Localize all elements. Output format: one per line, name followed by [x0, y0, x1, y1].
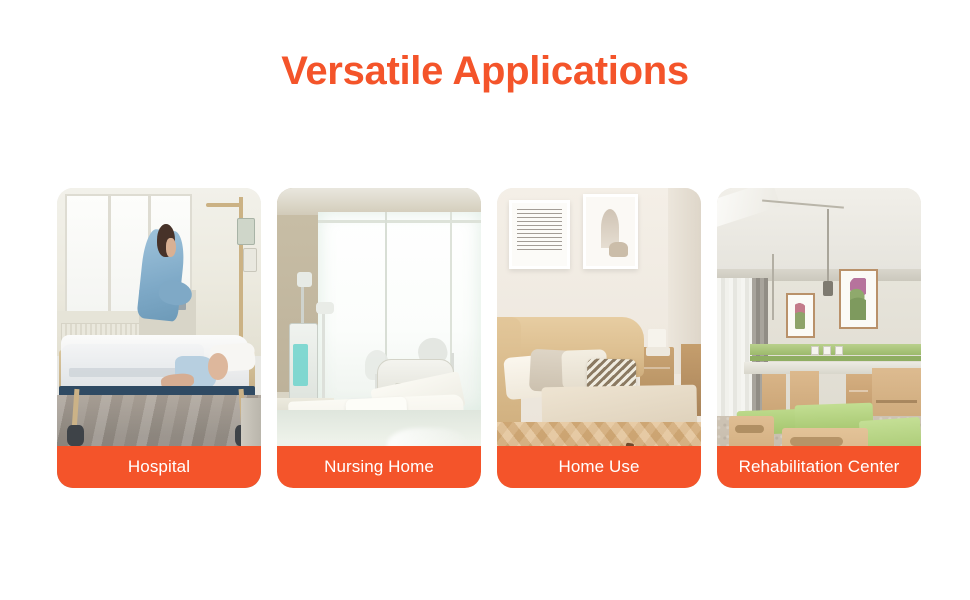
bed-caster-left: [67, 425, 83, 446]
application-card-nursing-home[interactable]: Nursing Home: [277, 188, 481, 488]
rehabilitation-ward-scene: [717, 188, 921, 488]
card-label-nursing-home[interactable]: Nursing Home: [277, 446, 481, 488]
hoist-wire: [827, 209, 829, 287]
hoist-hook: [823, 281, 833, 296]
card-label-rehabilitation-center[interactable]: Rehabilitation Center: [717, 446, 921, 488]
bed-panel-handle-1: [735, 425, 764, 433]
card-label-hospital[interactable]: Hospital: [57, 446, 261, 488]
application-card-hospital[interactable]: Hospital: [57, 188, 261, 488]
card-label-home-use[interactable]: Home Use: [497, 446, 701, 488]
application-card-rehabilitation-center[interactable]: Rehabilitation Center: [717, 188, 921, 488]
bed-panel-handle-2: [790, 437, 843, 446]
botanical-illustration-small: [795, 302, 805, 329]
wall-outlet-3: [835, 346, 843, 355]
artwork-object: [609, 242, 627, 257]
hoist-wire-secondary: [772, 254, 774, 320]
artwork-text-lines: [517, 209, 562, 251]
application-cards-row: Hospital: [57, 188, 923, 488]
wall-dispenser: [243, 248, 257, 272]
nursing-home-scene: [277, 188, 481, 488]
application-card-home-use[interactable]: Home Use: [497, 188, 701, 488]
hospital-room-scene: [57, 188, 261, 488]
page-title: Versatile Applications: [0, 47, 970, 95]
ceiling: [277, 188, 481, 215]
iv-pole-arm: [206, 203, 243, 207]
secondary-stand-top: [316, 302, 334, 314]
window-frame-horizontal: [318, 220, 481, 223]
iv-bag: [297, 272, 311, 287]
nightstand-book: [646, 347, 670, 356]
wall-medical-device: [237, 218, 255, 245]
wall-outlet-1: [811, 346, 819, 355]
versatile-applications-banner: Versatile Applications: [0, 0, 970, 600]
wall-outlet-2: [823, 346, 831, 355]
home-bedroom-scene: [497, 188, 701, 488]
botanical-illustration-large: [850, 278, 866, 320]
infusion-pump-screen: [293, 344, 307, 386]
green-wall-band-lower: [750, 356, 921, 361]
